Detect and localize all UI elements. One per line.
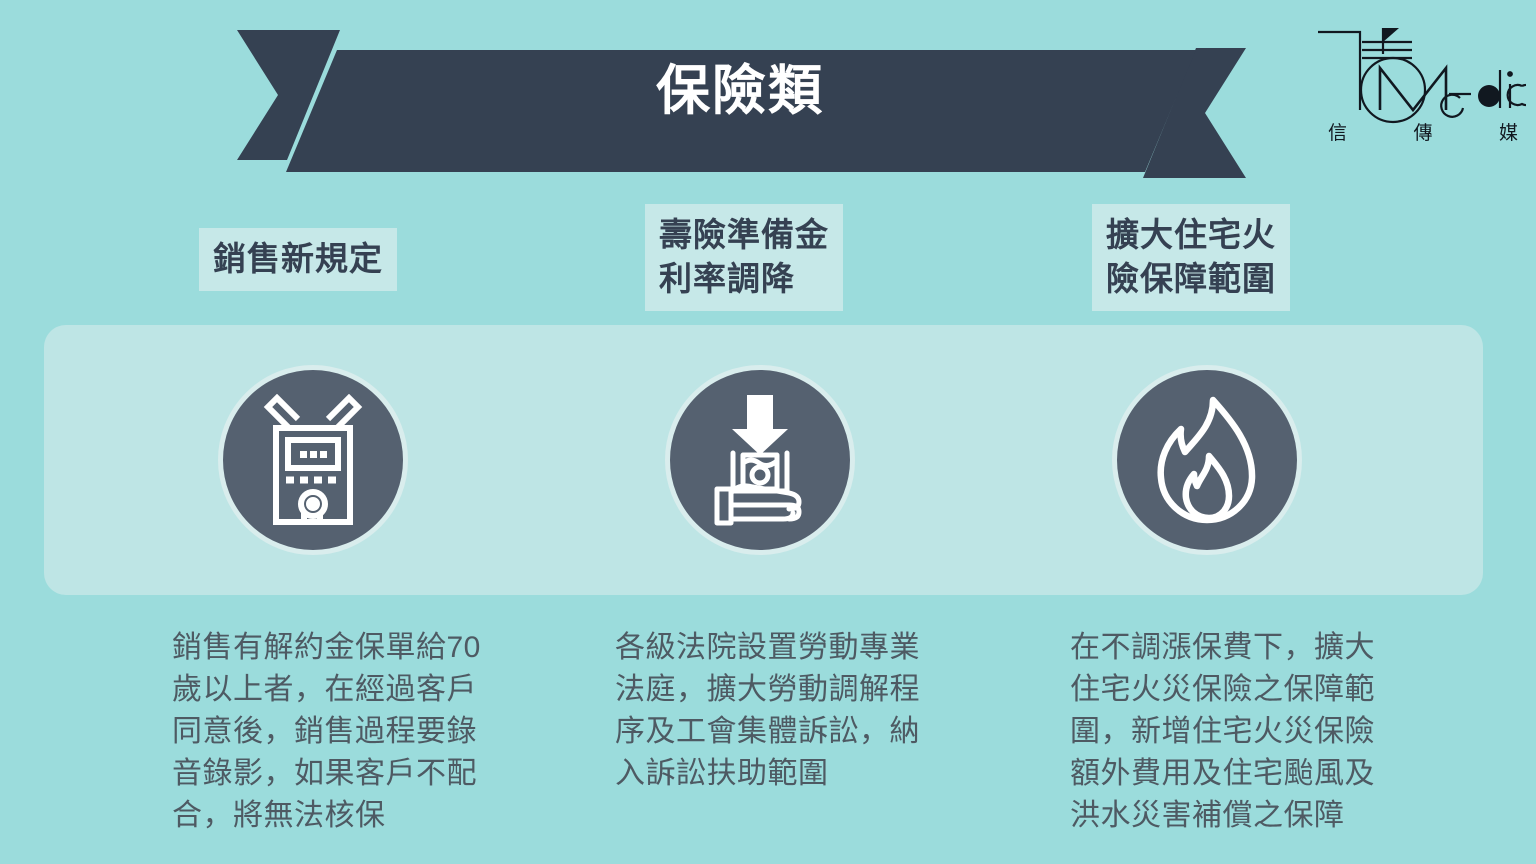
icon-circle-2	[665, 365, 855, 555]
icon-slot-home-fire-coverage	[1112, 365, 1302, 555]
logo-char-2: 傳	[1413, 122, 1432, 144]
cm-media-logo: 信 傳 媒	[1300, 14, 1526, 150]
icon-slot-life-reserve-rate	[665, 365, 855, 555]
logo-char-1: 信	[1328, 122, 1347, 144]
infographic-root: 保險類	[0, 0, 1536, 864]
icon-circle-1	[218, 365, 408, 555]
column-body-home-fire-coverage: 在不調漲保費下，擴大住宅火災保險之保障範圍，新增住宅火災保險額外費用及住宅颱風及…	[1070, 627, 1380, 837]
column-body-life-reserve-rate: 各級法院設置勞動專業法庭，擴大勞動調解程序及工會集體訴訟，納入訴訟扶助範圍	[615, 627, 935, 795]
column-heading-sales-rules: 銷售新規定	[199, 228, 397, 291]
hand-money-down-arrow-icon	[695, 393, 825, 527]
voice-recorder-icon	[252, 394, 374, 526]
screen-dots-icon	[300, 451, 327, 458]
column-body-sales-rules: 銷售有解約金保單給70歲以上者，在經過客戶同意後，銷售過程要錄音錄影，如果客戶不…	[172, 627, 492, 837]
down-arrow-icon	[732, 395, 788, 455]
icon-panel	[44, 325, 1483, 595]
icon-circle-3	[1112, 365, 1302, 555]
icon-slot-sales-rules	[218, 365, 408, 555]
logo-chinese-text: 信 傳 媒	[1328, 122, 1518, 144]
flame-icon	[1147, 394, 1267, 526]
logo-char-3: 媒	[1499, 122, 1518, 144]
column-heading-life-reserve-rate: 壽險準備金 利率調降	[645, 204, 843, 311]
banner-title: 保險類	[340, 60, 1140, 122]
column-heading-home-fire-coverage: 擴大住宅火 險保障範圍	[1092, 204, 1290, 311]
